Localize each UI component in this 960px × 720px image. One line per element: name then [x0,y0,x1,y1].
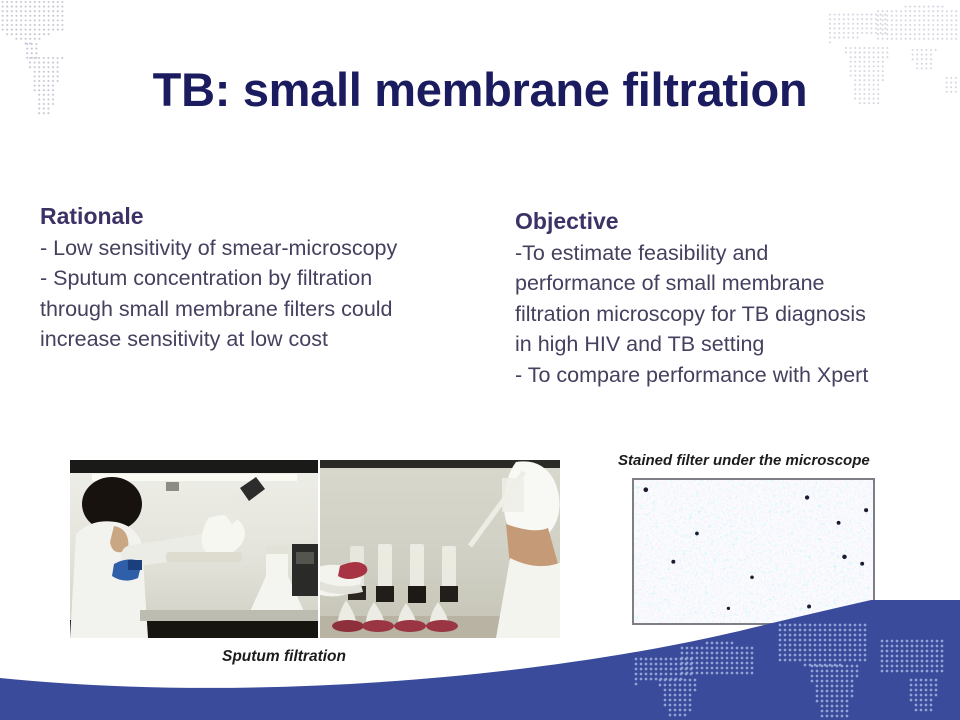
rationale-line-3: through small membrane filters could [40,294,490,325]
microscope-caption: Stained filter under the microscope [618,452,870,469]
objective-line-2: performance of small membrane [515,268,947,299]
rationale-line-4: increase sensitivity at low cost [40,324,490,355]
rationale-column: Rationale - Low sensitivity of smear-mic… [40,203,490,355]
blue-curved-footer-swoosh [0,600,960,720]
objective-heading: Objective [515,208,947,236]
objective-line-5: - To compare performance with Xpert [515,360,947,391]
objective-line-1: -To estimate feasibility and [515,238,947,269]
presentation-slide: TB: small membrane filtration Rationale … [0,0,960,720]
objective-line-3: filtration microscopy for TB diagnosis [515,299,947,330]
rationale-line-1: - Low sensitivity of smear-microscopy [40,233,490,264]
objective-body: -To estimate feasibility and performance… [515,238,947,391]
rationale-heading: Rationale [40,203,490,231]
page-title: TB: small membrane filtration [0,62,960,117]
rationale-body: - Low sensitivity of smear-microscopy - … [40,233,490,355]
rationale-line-2: - Sputum concentration by filtration [40,263,490,294]
objective-column: Objective -To estimate feasibility and p… [515,208,947,390]
objective-line-4: in high HIV and TB setting [515,329,947,360]
